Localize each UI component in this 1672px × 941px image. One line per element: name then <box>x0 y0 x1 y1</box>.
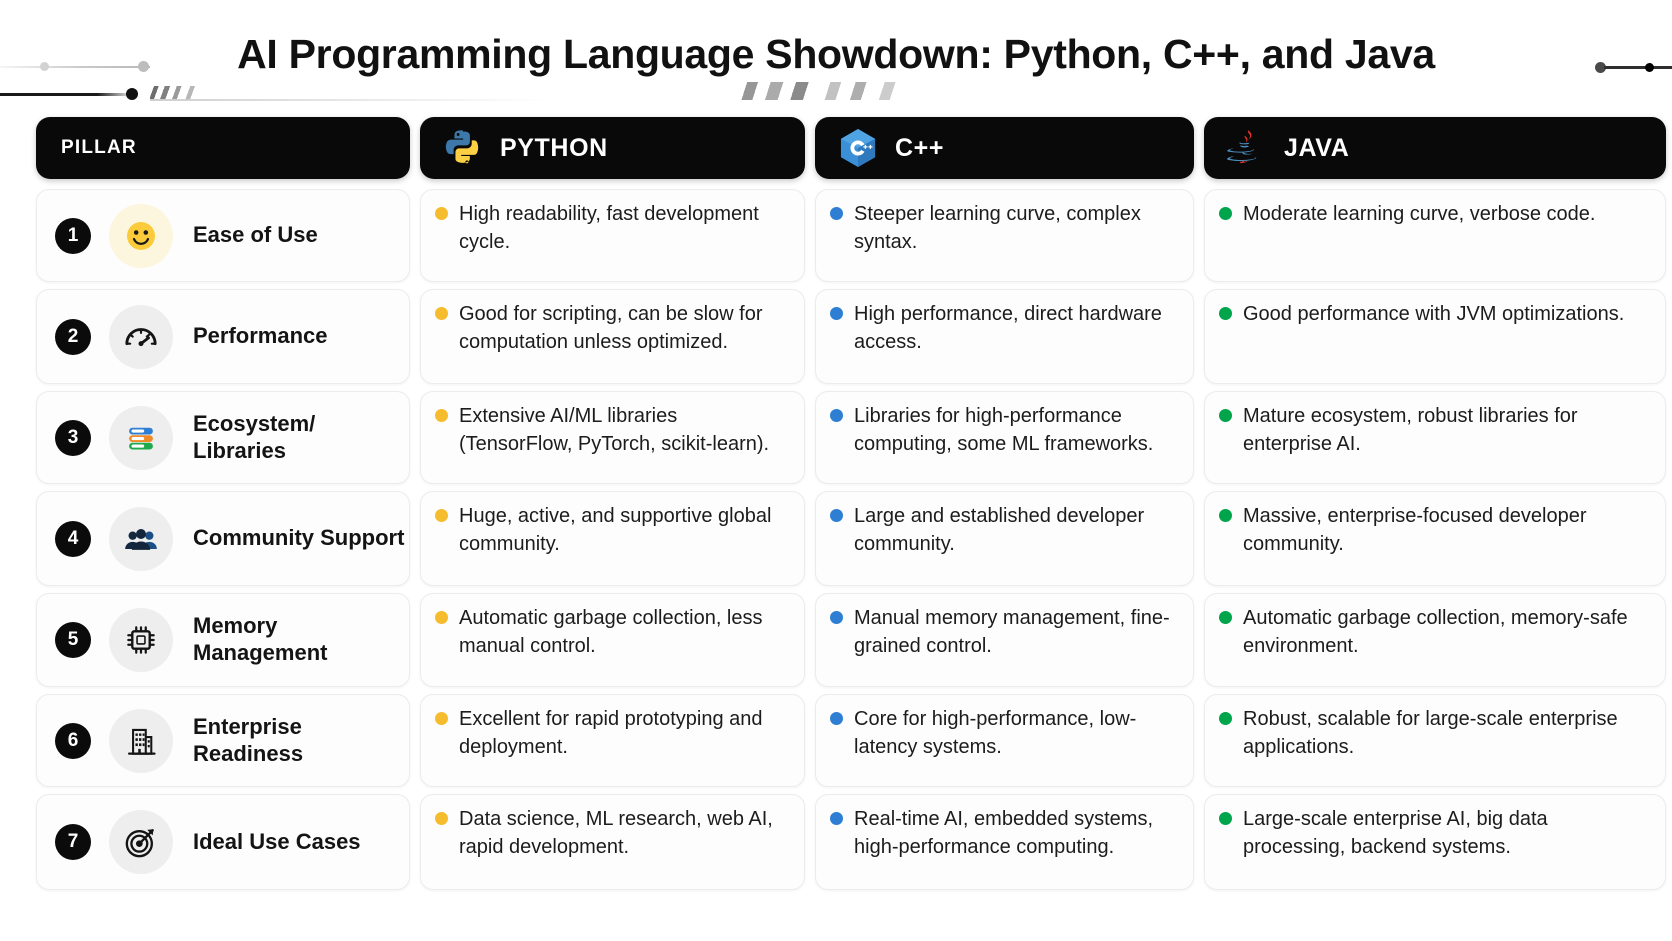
java-bullet-dot <box>1219 611 1232 624</box>
python-cell: Excellent for rapid prototyping and depl… <box>420 694 805 787</box>
java-header-label: JAVA <box>1284 134 1349 163</box>
column-header-cpp[interactable]: C++ <box>815 117 1194 179</box>
python-cell: Good for scripting, can be slow for comp… <box>420 289 805 384</box>
python-bullet-dot <box>435 712 448 725</box>
cpp-bullet-dot <box>830 812 843 825</box>
column-header-java[interactable]: JAVA <box>1204 117 1666 179</box>
cpp-text: Steeper learning curve, complex syntax. <box>854 200 1177 257</box>
cpp-header-label: C++ <box>895 134 944 163</box>
table-row: 1 Ease of Use High readability, fast dev… <box>36 189 1636 282</box>
java-cell: Robust, scalable for large-scale enterpr… <box>1204 694 1666 787</box>
row-number-badge: 2 <box>55 319 91 355</box>
row-number-badge: 7 <box>55 824 91 860</box>
row-number-badge: 4 <box>55 521 91 557</box>
java-bullet-dot <box>1219 207 1232 220</box>
python-text: Data science, ML research, web AI, rapid… <box>459 805 788 862</box>
python-text: Good for scripting, can be slow for comp… <box>459 300 788 357</box>
python-bullet-dot <box>435 307 448 320</box>
speedometer-icon <box>109 305 173 369</box>
java-text: Robust, scalable for large-scale enterpr… <box>1243 705 1649 762</box>
column-header-pillar: PILLAR <box>36 117 410 179</box>
cpp-text: High performance, direct hardware access… <box>854 300 1177 357</box>
table-row: 2 Performance Good for scripting, can be… <box>36 289 1636 384</box>
python-bullet-dot <box>435 812 448 825</box>
pillar-label: Ideal Use Cases <box>193 829 361 856</box>
java-cell: Large-scale enterprise AI, big data proc… <box>1204 794 1666 890</box>
pillar-cell: 5 Memory Management <box>36 593 410 687</box>
python-text: High readability, fast development cycle… <box>459 200 788 257</box>
cpp-cell: Steeper learning curve, complex syntax. <box>815 189 1194 282</box>
python-header-label: PYTHON <box>500 134 608 163</box>
table-row: 4 Community Support Huge, active, and su… <box>36 491 1636 586</box>
cpp-text: Manual memory management, fine-grained c… <box>854 604 1177 661</box>
title-bar: AI Programming Language Showdown: Python… <box>0 0 1672 108</box>
cpp-bullet-dot <box>830 307 843 320</box>
pillar-cell: 7 Ideal Use Cases <box>36 794 410 890</box>
page-title: AI Programming Language Showdown: Python… <box>237 31 1435 78</box>
java-cell: Automatic garbage collection, memory-saf… <box>1204 593 1666 687</box>
python-cell: High readability, fast development cycle… <box>420 189 805 282</box>
pillar-cell: 3 Ecosystem/ Libraries <box>36 391 410 484</box>
table-row: 7 Ideal Use Cases Data science, ML resea… <box>36 794 1636 890</box>
java-cell: Good performance with JVM optimizations. <box>1204 289 1666 384</box>
cpp-text: Libraries for high-performance computing… <box>854 402 1177 459</box>
pillar-cell: 2 Performance <box>36 289 410 384</box>
people-group-icon <box>109 507 173 571</box>
office-building-icon <box>109 709 173 773</box>
row-number-badge: 1 <box>55 218 91 254</box>
java-logo-icon <box>1226 127 1268 169</box>
python-text: Huge, active, and supportive global comm… <box>459 502 788 559</box>
java-text: Mature ecosystem, robust libraries for e… <box>1243 402 1649 459</box>
cpp-cell: Large and established developer communit… <box>815 491 1194 586</box>
python-cell: Huge, active, and supportive global comm… <box>420 491 805 586</box>
cpp-cell: High performance, direct hardware access… <box>815 289 1194 384</box>
target-dart-icon <box>109 810 173 874</box>
cpp-bullet-dot <box>830 409 843 422</box>
java-bullet-dot <box>1219 712 1232 725</box>
python-text: Excellent for rapid prototyping and depl… <box>459 705 788 762</box>
cpp-text: Core for high-performance, low-latency s… <box>854 705 1177 762</box>
cpp-text: Large and established developer communit… <box>854 502 1177 559</box>
python-bullet-dot <box>435 509 448 522</box>
java-text: Massive, enterprise-focused developer co… <box>1243 502 1649 559</box>
table-row: 6 Enterprise Readiness <box>36 694 1636 787</box>
java-bullet-dot <box>1219 409 1232 422</box>
table-header-row: PILLAR PYTHON C++ <box>36 117 1636 179</box>
pillar-label: Performance <box>193 323 328 350</box>
pillar-cell: 6 Enterprise Readiness <box>36 694 410 787</box>
pillar-cell: 4 Community Support <box>36 491 410 586</box>
column-header-python[interactable]: PYTHON <box>420 117 805 179</box>
cpu-chip-icon <box>109 608 173 672</box>
pillar-label: Ease of Use <box>193 222 318 249</box>
python-bullet-dot <box>435 409 448 422</box>
python-text: Extensive AI/ML libraries (TensorFlow, P… <box>459 402 788 459</box>
books-stack-icon <box>109 406 173 470</box>
pillar-label: Memory Management <box>193 613 409 667</box>
java-bullet-dot <box>1219 307 1232 320</box>
java-text: Automatic garbage collection, memory-saf… <box>1243 604 1649 661</box>
cplusplus-logo-icon <box>837 127 879 169</box>
pillar-label: Community Support <box>193 525 404 552</box>
cpp-bullet-dot <box>830 509 843 522</box>
table-row: 5 Memory Management Automatic garbage co… <box>36 593 1636 687</box>
java-cell: Mature ecosystem, robust libraries for e… <box>1204 391 1666 484</box>
java-text: Good performance with JVM optimizations. <box>1243 300 1624 328</box>
table-row: 3 Ecosystem/ Libraries Extensive AI/ML l… <box>36 391 1636 484</box>
cpp-bullet-dot <box>830 207 843 220</box>
cpp-bullet-dot <box>830 611 843 624</box>
pillar-cell: 1 Ease of Use <box>36 189 410 282</box>
pillar-header-label: PILLAR <box>61 137 137 159</box>
java-text: Large-scale enterprise AI, big data proc… <box>1243 805 1649 862</box>
cpp-cell: Core for high-performance, low-latency s… <box>815 694 1194 787</box>
python-bullet-dot <box>435 207 448 220</box>
java-bullet-dot <box>1219 509 1232 522</box>
cpp-text: Real-time AI, embedded systems, high-per… <box>854 805 1177 862</box>
comparison-table: PILLAR PYTHON C++ <box>36 117 1636 897</box>
row-number-badge: 6 <box>55 723 91 759</box>
python-bullet-dot <box>435 611 448 624</box>
python-cell: Automatic garbage collection, less manua… <box>420 593 805 687</box>
row-number-badge: 3 <box>55 420 91 456</box>
java-cell: Massive, enterprise-focused developer co… <box>1204 491 1666 586</box>
cpp-cell: Manual memory management, fine-grained c… <box>815 593 1194 687</box>
python-logo-icon <box>442 127 484 169</box>
pillar-label: Ecosystem/ Libraries <box>193 411 409 465</box>
python-cell: Data science, ML research, web AI, rapid… <box>420 794 805 890</box>
pillar-label: Enterprise Readiness <box>193 714 409 768</box>
java-cell: Moderate learning curve, verbose code. <box>1204 189 1666 282</box>
cpp-cell: Libraries for high-performance computing… <box>815 391 1194 484</box>
python-cell: Extensive AI/ML libraries (TensorFlow, P… <box>420 391 805 484</box>
java-text: Moderate learning curve, verbose code. <box>1243 200 1595 228</box>
smiley-face-icon <box>109 204 173 268</box>
python-text: Automatic garbage collection, less manua… <box>459 604 788 661</box>
cpp-cell: Real-time AI, embedded systems, high-per… <box>815 794 1194 890</box>
row-number-badge: 5 <box>55 622 91 658</box>
java-bullet-dot <box>1219 812 1232 825</box>
cpp-bullet-dot <box>830 712 843 725</box>
